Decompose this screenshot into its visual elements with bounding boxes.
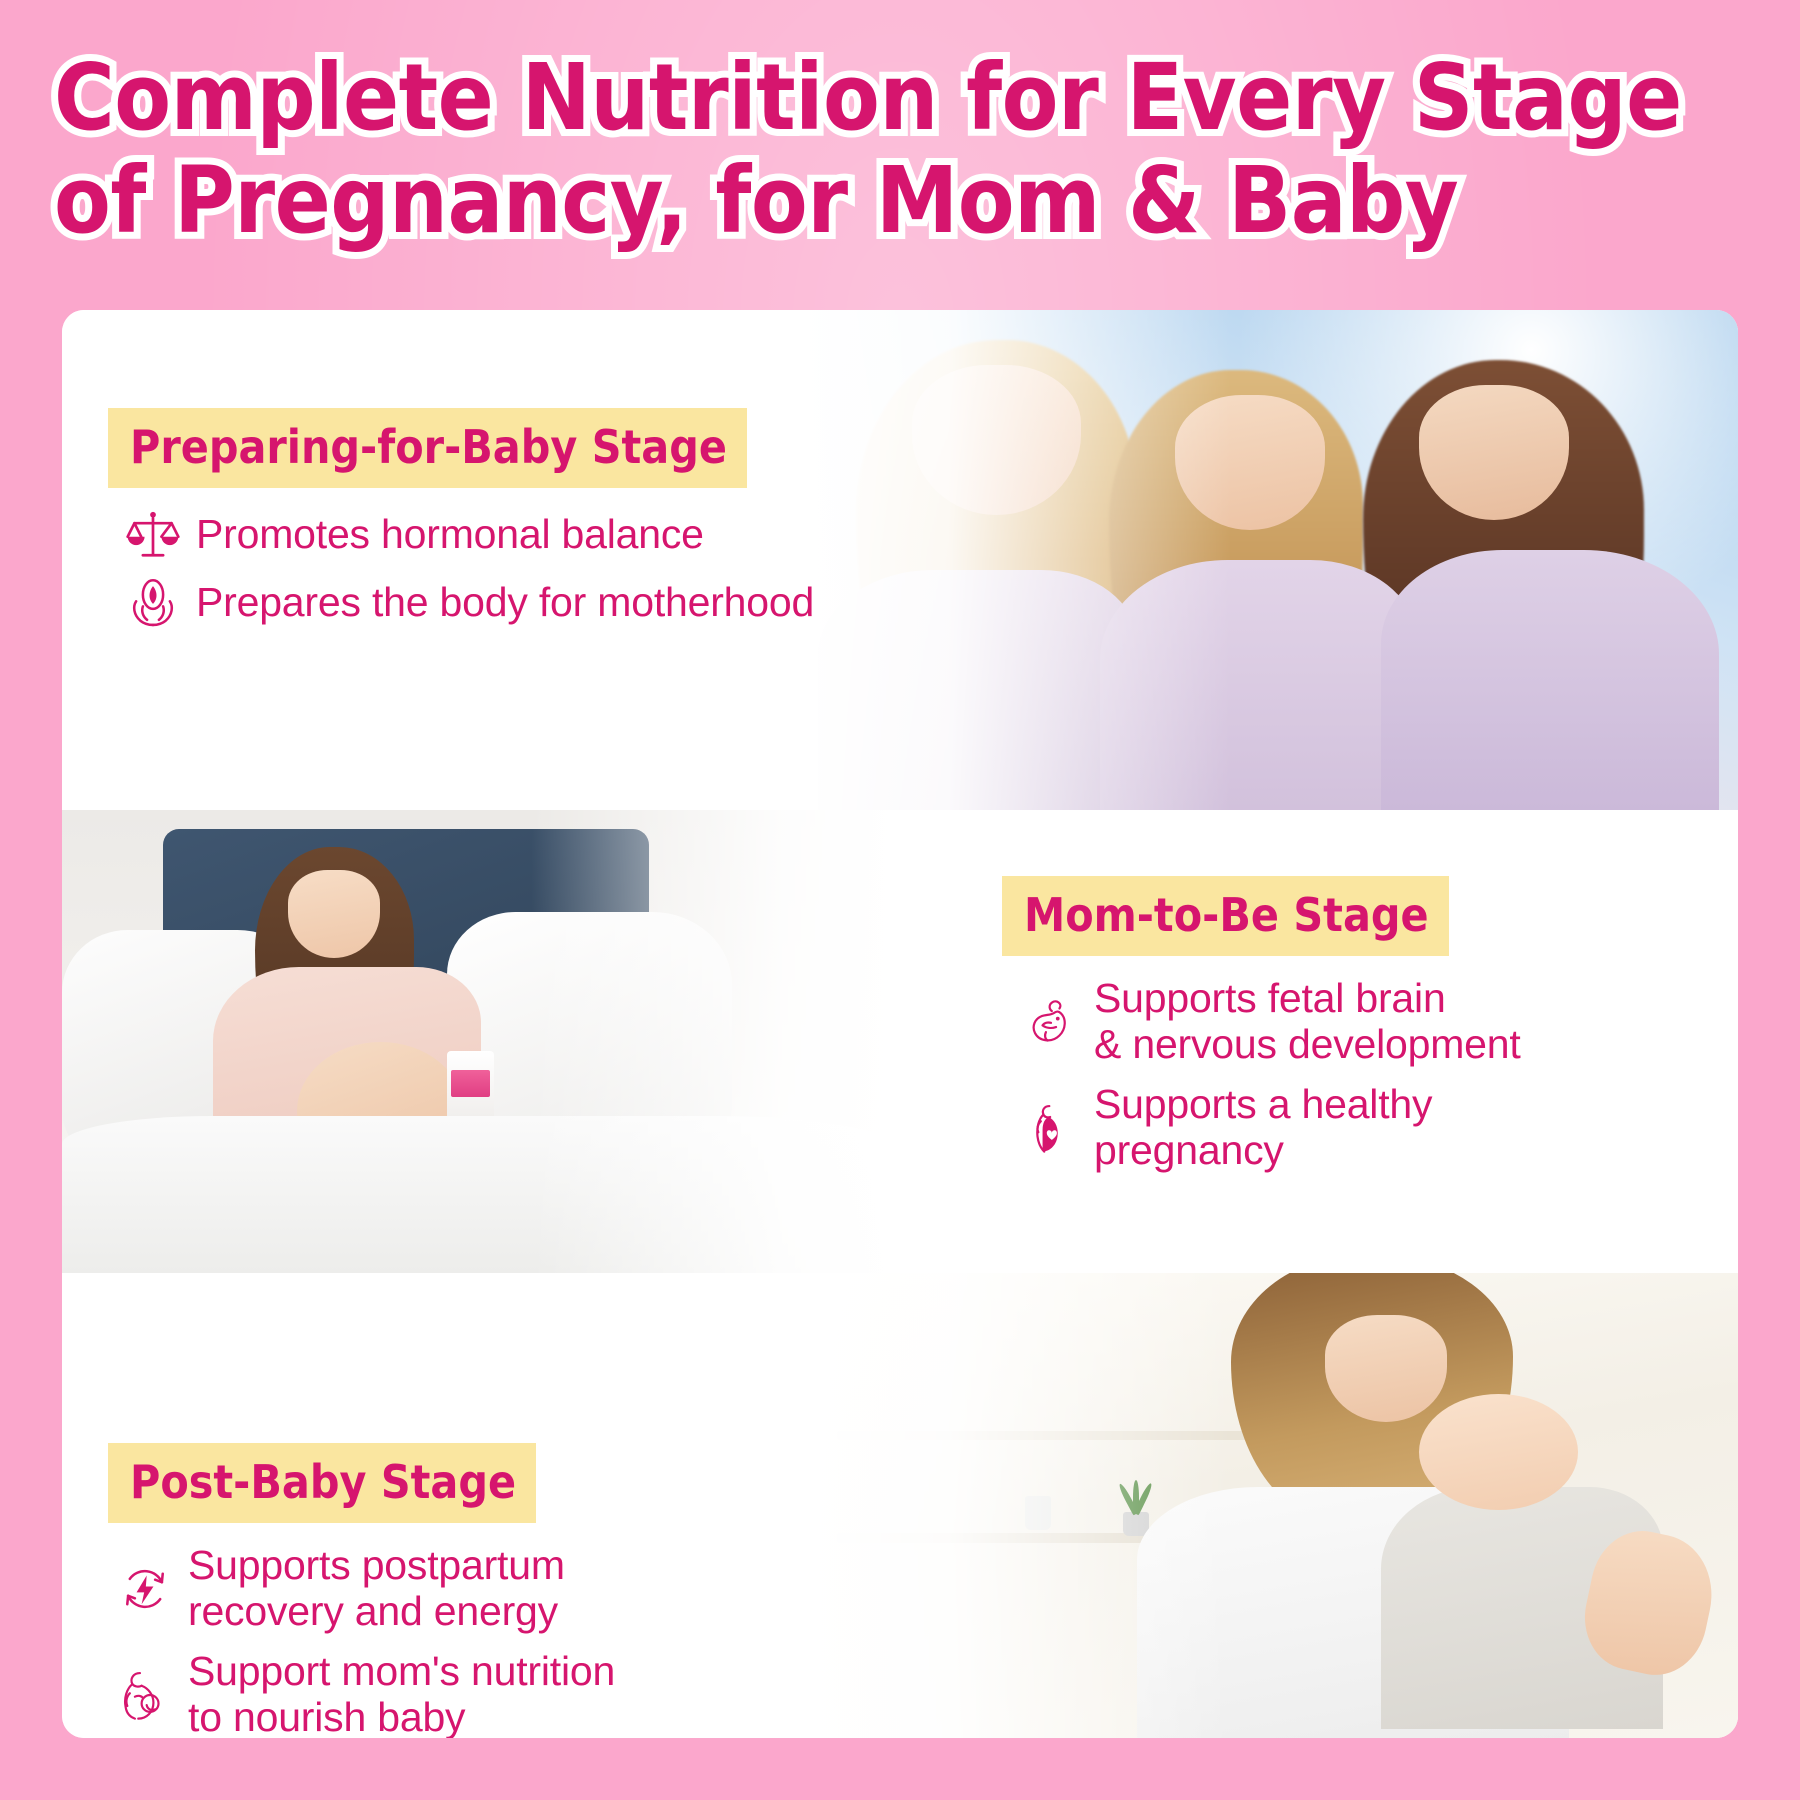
stage-text-mom-to-be: Mom-to-Be Stage Supports fetal brai	[1002, 876, 1682, 1188]
energy-recovery-icon	[118, 1562, 172, 1616]
stage-section-preparing-for-baby: Preparing-for-Baby Stage	[62, 310, 1738, 810]
stage-bullets-preparing-for-baby: Promotes hormonal balance Prepare	[108, 508, 938, 630]
fetus-icon	[1024, 995, 1078, 1049]
bullet-text: Supports fetal brain & nervous developme…	[1094, 976, 1521, 1068]
bullet-item: Promotes hormonal balance	[126, 508, 938, 562]
stages-card: Preparing-for-Baby Stage	[62, 310, 1738, 1738]
bullet-text: Promotes hormonal balance	[196, 512, 704, 558]
stage-bullets-post-baby: Supports postpartum recovery and energy	[108, 1543, 808, 1738]
bullet-text: Prepares the body for motherhood	[196, 580, 814, 626]
page-title: Complete Nutrition for Every Stage of Pr…	[0, 46, 1800, 252]
stage-photo-post-baby	[799, 1273, 1738, 1738]
stage-text-preparing-for-baby: Preparing-for-Baby Stage	[108, 408, 938, 644]
stage-photo-preparing-for-baby	[799, 310, 1738, 810]
stage-text-post-baby: Post-Baby Stage Supports postpartum reco…	[108, 1443, 808, 1738]
page-title-line-2: of Pregnancy, for Mom & Baby	[54, 149, 1746, 252]
bullet-item: Supports postpartum recovery and energy	[118, 1543, 808, 1635]
stage-photo-mom-to-be	[62, 810, 900, 1273]
bullet-item: Supports a healthy pregnancy	[1024, 1082, 1682, 1174]
stage-bullets-mom-to-be: Supports fetal brain & nervous developme…	[1002, 976, 1682, 1174]
stage-heading-preparing-for-baby: Preparing-for-Baby Stage	[108, 408, 747, 488]
bullet-item: Support mom's nutrition to nourish baby	[118, 1649, 808, 1738]
balance-scale-icon	[126, 508, 180, 562]
stage-heading-post-baby: Post-Baby Stage	[108, 1443, 536, 1523]
bullet-text: Supports a healthy pregnancy	[1094, 1082, 1432, 1174]
bullet-item: Prepares the body for motherhood	[126, 576, 938, 630]
bullet-text: Support mom's nutrition to nourish baby	[188, 1649, 615, 1738]
stage-section-post-baby: Post-Baby Stage Supports postpartum reco…	[62, 1273, 1738, 1738]
page-title-line-1: Complete Nutrition for Every Stage	[54, 44, 1682, 151]
bullet-text: Supports postpartum recovery and energy	[188, 1543, 565, 1635]
stage-heading-mom-to-be: Mom-to-Be Stage	[1002, 876, 1449, 956]
hands-holding-seed-icon	[126, 576, 180, 630]
pregnant-woman-heart-icon	[1024, 1101, 1078, 1155]
stage-section-mom-to-be: Mom-to-Be Stage Supports fetal brai	[62, 810, 1738, 1273]
mother-nursing-baby-icon	[118, 1668, 172, 1722]
bullet-item: Supports fetal brain & nervous developme…	[1024, 976, 1682, 1068]
